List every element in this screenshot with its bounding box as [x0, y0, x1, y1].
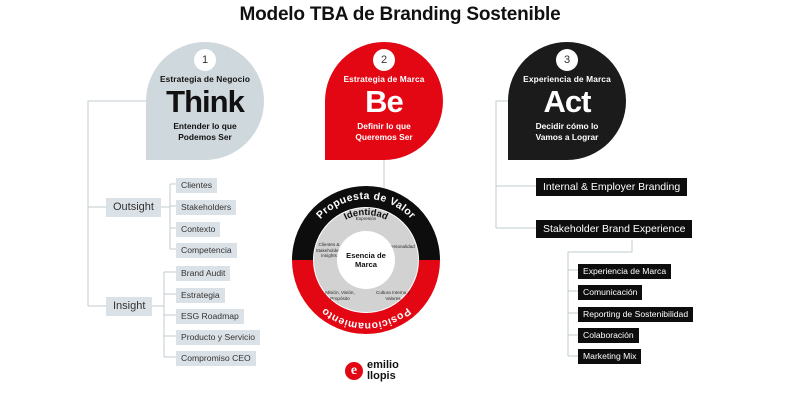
brand-identity-circle[interactable]: Propuesta de Valor Posicionamiento Ident…: [292, 186, 440, 334]
diagram-canvas: Modelo TBA de Branding Sostenible: [0, 0, 800, 400]
pillar-kicker-1: Estrategia de Negocio: [160, 74, 250, 84]
pillar-word-think: Think: [166, 85, 244, 119]
insight-item-producto-y-servicio[interactable]: Producto y Servicio: [176, 330, 260, 345]
pillar-kicker-2: Estrategia de Marca: [343, 74, 424, 84]
pillar-footer-2: Definir lo que Queremos Ser: [355, 121, 412, 143]
circle-segment-cultura-interna-valores: Cultura Interna y Valores: [371, 290, 415, 301]
right-item-reporting-de-sostenibilidad[interactable]: Reporting de Sostenibilidad: [578, 307, 693, 322]
circle-segment-expresion: Expresión: [344, 216, 388, 222]
right-item-colaboracion[interactable]: Colaboración: [578, 328, 639, 343]
outsight-item-clientes[interactable]: Clientes: [176, 178, 217, 193]
outsight-item-contexto[interactable]: Contexto: [176, 222, 220, 237]
logo-line2: llopis: [367, 371, 399, 382]
logo-line1: emilio: [367, 360, 399, 371]
right-item-marketing-mix[interactable]: Marketing Mix: [578, 349, 641, 364]
pillar-number-3: 3: [556, 49, 578, 71]
pillar-footer-3-line1: Decidir cómo lo: [536, 121, 599, 132]
pillar-number-2: 2: [373, 49, 395, 71]
logo[interactable]: e emilio llopis: [345, 360, 399, 381]
circle-core-esencia-de-marca: Esencia de Marca: [337, 231, 395, 289]
pillar-footer-1-line1: Entender lo que: [173, 121, 236, 132]
pillar-kicker-3: Experiencia de Marca: [523, 74, 611, 84]
right-item-comunicacion[interactable]: Comunicación: [578, 285, 642, 300]
right-lead-stakeholder-brand-experience[interactable]: Stakeholder Brand Experience: [536, 220, 692, 238]
pillar-word-be: Be: [365, 85, 403, 119]
circle-segment-mision-vision-proposito: Misión, Visión, Propósito: [318, 290, 362, 301]
branch-label-outsight[interactable]: Outsight: [106, 198, 161, 217]
pillar-number-1: 1: [194, 49, 216, 71]
pillar-be[interactable]: 2 Estrategia de Marca Be Definir lo que …: [325, 42, 443, 160]
logo-mark-icon: e: [345, 362, 363, 380]
insight-item-estrategia[interactable]: Estrategia: [176, 288, 225, 303]
pillar-footer-2-line2: Queremos Ser: [355, 132, 412, 143]
outsight-item-competencia[interactable]: Competencia: [176, 243, 237, 258]
pillar-act[interactable]: 3 Experiencia de Marca Act Decidir cómo …: [508, 42, 626, 160]
pillar-footer-2-line1: Definir lo que: [355, 121, 412, 132]
logo-wordmark: emilio llopis: [367, 360, 399, 381]
right-item-experiencia-de-marca[interactable]: Experiencia de Marca: [578, 264, 671, 279]
outsight-item-stakeholders[interactable]: Stakeholders: [176, 200, 236, 215]
pillar-footer-3-line2: Vamos a Lograr: [536, 132, 599, 143]
core-line2: Marca: [355, 260, 377, 269]
pillar-footer-1-line2: Podemos Ser: [173, 132, 236, 143]
pillar-footer-1: Entender lo que Podemos Ser: [173, 121, 236, 143]
pillar-footer-3: Decidir cómo lo Vamos a Lograr: [536, 121, 599, 143]
insight-item-brand-audit[interactable]: Brand Audit: [176, 266, 230, 281]
circle-segment-personalidad: Personalidad: [388, 244, 426, 250]
pillar-think[interactable]: 1 Estrategia de Negocio Think Entender l…: [146, 42, 264, 160]
right-lead-internal-employer-branding[interactable]: Internal & Employer Branding: [536, 178, 687, 196]
insight-item-compromiso-ceo[interactable]: Compromiso CEO: [176, 351, 256, 366]
core-line1: Esencia de: [346, 251, 386, 260]
branch-label-insight[interactable]: Insight: [106, 297, 152, 316]
insight-item-esg-roadmap[interactable]: ESG Roadmap: [176, 309, 244, 324]
pillar-word-act: Act: [544, 85, 591, 119]
